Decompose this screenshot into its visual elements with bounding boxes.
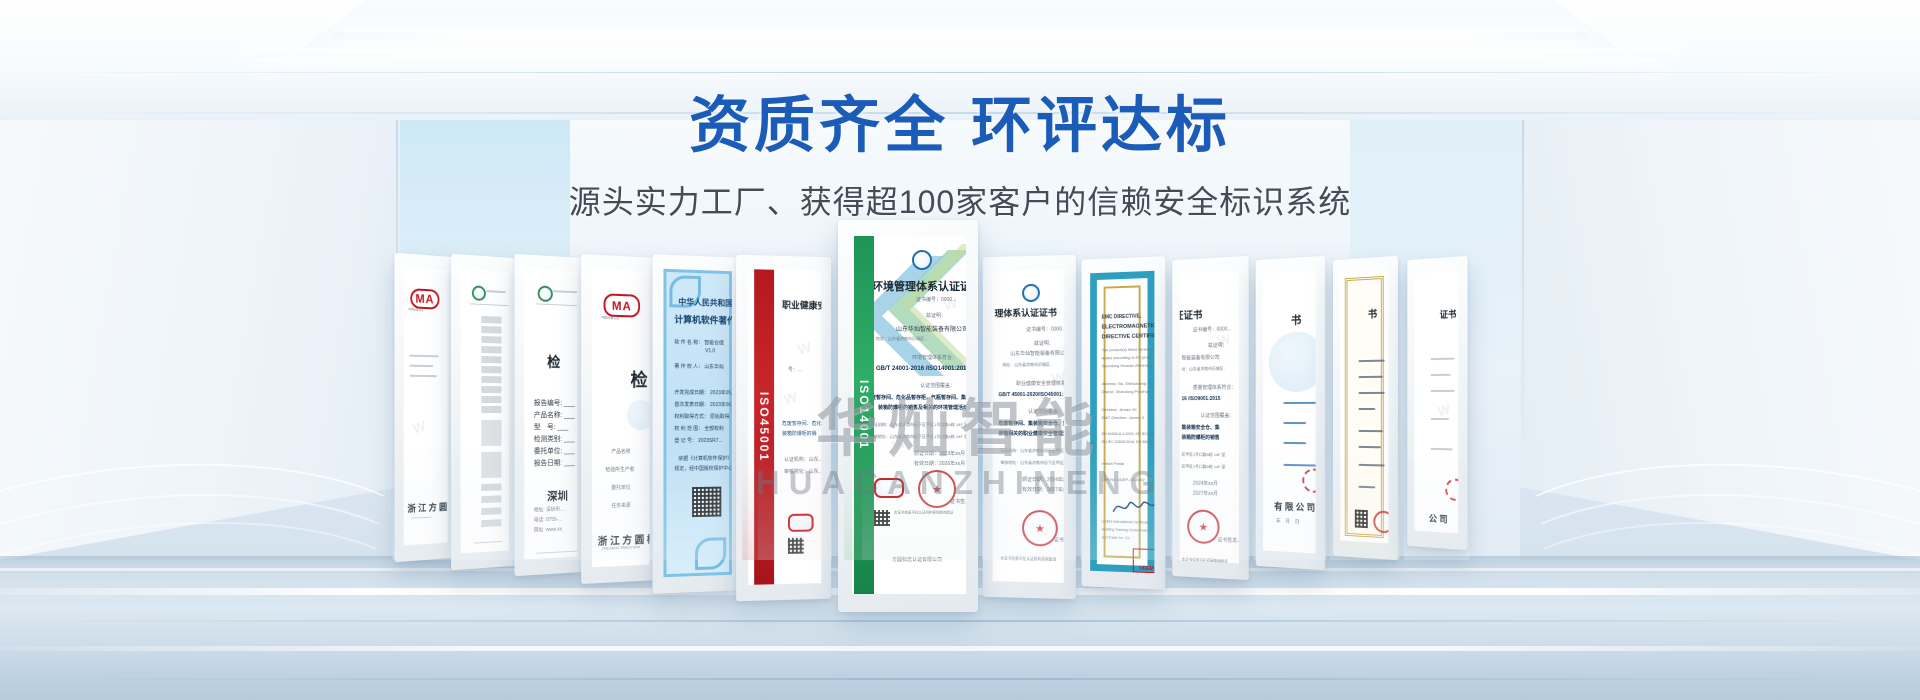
authorization-title: 书 xyxy=(1291,312,1301,328)
page-title-part1: 资质齐全 xyxy=(689,91,949,159)
ohs-company: 山东华灿智能装备有限公司 xyxy=(1010,350,1064,358)
right-plain-title: 证书 xyxy=(1440,307,1457,321)
right-plain-org: 公 司 xyxy=(1429,512,1448,526)
iso45001-title: 职业健康安全 xyxy=(782,298,821,312)
certificate-frame-agent-authorization[interactable]: 书 有 限 公 司 年 月 日 xyxy=(1256,256,1326,570)
page-subtitle: 源头实力工厂、获得超100家客户的信赖安全标识系统 xyxy=(0,177,1920,223)
iso9001-scope: 集装箱安全仓、集 xyxy=(1182,424,1220,431)
ohs-title: 理体系认证证书 xyxy=(995,305,1057,319)
ma-badge-4: MA xyxy=(604,293,640,317)
udem-logo: UDEM xyxy=(1133,548,1155,573)
blue-certificate-body: 中华人民共和国 计算机软件著作权 软 件 名 称： 智能仓储 V1.0 著 作 … xyxy=(663,269,731,577)
iso45001-band: ISO45001 xyxy=(754,269,774,584)
iso45001-qr xyxy=(788,538,804,554)
signature-icon xyxy=(1111,496,1154,519)
iso14001-band: ISO14001 xyxy=(854,236,874,594)
globe-logo-4 xyxy=(627,400,650,430)
red-stamp-11 xyxy=(1302,468,1315,493)
cert-title-3: 检 xyxy=(547,352,560,372)
iso14001-standard: GB/T 24001-2016 /ISO14001:2015 xyxy=(876,366,966,372)
certificate-frame-ce-emc[interactable]: EMC DIRECTIVE, ELECTROMAGNETIC COMPATIBI… xyxy=(1082,256,1166,590)
copyright-title-1: 中华人民共和国 xyxy=(678,296,732,309)
certificate-frame-iso14001[interactable]: 环境管理体系认证证书 证书编号：0000... 兹证明： 山东华灿智能装备有限公… xyxy=(838,220,978,612)
cnas-logo-45001 xyxy=(788,514,814,532)
certificate-frame-software-copyright[interactable]: 中华人民共和国 计算机软件著作权 软 件 名 称： 智能仓储 V1.0 著 作 … xyxy=(653,254,741,594)
org-logo-3 xyxy=(538,285,553,302)
certificate-frame-right-plain[interactable]: 证书 公 司 W xyxy=(1407,256,1467,550)
cert-org-en-4: ZHEJIANG FANGYUAN xyxy=(602,545,641,551)
cnas-logo-14001 xyxy=(874,478,904,498)
fangyuan-seal-logo xyxy=(912,250,932,270)
copyright-qr-code xyxy=(692,487,721,517)
certificate-frame-iso45001[interactable]: ISO45001 职业健康安全 号：... 危废暂存间、危化品暂存 装箱防爆柜的… xyxy=(736,255,831,602)
certificate-frame-shenzhen-test[interactable]: 检 报告编号: ___ 产品名称: ___ 型 号: ___ 检测类别: ___… xyxy=(515,254,585,576)
iso14001-issuer: 方圆标志认证有限公司 xyxy=(892,556,942,563)
banner-headings: 资质齐全环评达标 源头实力工厂、获得超100家客户的信赖安全标识系统 xyxy=(0,92,1920,223)
certificate-frame-gold-honor[interactable]: 书 xyxy=(1333,256,1398,560)
cert-org-3: 深圳 xyxy=(547,488,568,505)
iso14001-scope: 危废暂存间、危化品暂存柜、气瓶暂存间、集装箱安全仓、集 xyxy=(866,394,966,401)
iso14001-title: 环境管理体系认证证书 xyxy=(872,278,966,294)
official-red-stamp-8: ★ xyxy=(1022,510,1058,547)
iso14001-company: 山东华灿智能装备有限公司 xyxy=(896,324,966,333)
ma-badge-sub-4: 中国计量认证 xyxy=(602,315,619,320)
fangyuan-seal-logo-8 xyxy=(1022,284,1040,302)
cert-title-4: 检 xyxy=(631,366,648,392)
iso45001-band-label: ISO45001 xyxy=(757,392,771,462)
cert-fields-3: 报告编号: ___ 产品名称: ___ 型 号: ___ 检测类别: ___ 委… xyxy=(524,269,577,272)
cert-table-2 xyxy=(461,269,509,272)
iso14001-sign-label: 证书签发人 xyxy=(950,498,966,505)
ohs-standard: GB/T 45001-2020/ISO45001:2018 xyxy=(998,392,1063,398)
ce-title-1: EMC DIRECTIVE, xyxy=(1102,313,1141,320)
iso9001-title: 证证书 xyxy=(1180,306,1203,322)
copyright-fields: 软 件 名 称： 智能仓储 V1.0 著 作 权 人： 山东华灿 开发完成日期：… xyxy=(666,272,729,274)
iso45001-scope: 危废暂存间、危化品暂存 xyxy=(782,420,821,427)
gold-border-frame xyxy=(1345,276,1384,538)
globe-watermark-11 xyxy=(1269,331,1316,392)
cert-fields-4: 产品名称 检验所生产者 委托单位 任务来源 xyxy=(592,269,650,272)
honor-title: 书 xyxy=(1368,305,1377,320)
page-title-part2: 环评达标 xyxy=(971,91,1231,159)
certificate-frame-ohs-management[interactable]: 理体系认证证书 证书编号：0000... 兹证明： 山东华灿智能装备有限公司 地… xyxy=(983,255,1076,600)
iso9001-standard: 16 /ISO9001:2015 xyxy=(1182,396,1221,402)
iso14001-band-label: ISO14001 xyxy=(857,380,871,450)
authorization-org: 有 限 公 司 xyxy=(1274,499,1315,514)
page-title: 资质齐全环评达标 xyxy=(0,92,1920,159)
honor-barcode xyxy=(1355,510,1368,529)
certificate-frame-zhejiang-fangyuan-1[interactable]: MA 中国计量认证 浙 江 方 圆 W xyxy=(394,253,454,563)
iso14001-qr xyxy=(874,510,890,526)
certificate-frame-iso9001[interactable]: 证证书 证书编号：0000... 兹证明： 智能装备有限公司 址：山东省济南市历… xyxy=(1172,256,1249,580)
certificate-frame-shenzhen-list[interactable] xyxy=(451,254,516,571)
official-red-stamp-10: ★ xyxy=(1187,509,1219,544)
org-logo-2 xyxy=(472,285,486,301)
copyright-title-2: 计算机软件著作权 xyxy=(674,312,732,327)
certificate-banner: 资质齐全环评达标 源头实力工厂、获得超100家客户的信赖安全标识系统 MA 中国… xyxy=(0,0,1920,700)
ma-badge-1: MA xyxy=(410,288,439,310)
ma-badge-sub-1: 中国计量认证 xyxy=(408,307,423,312)
certificate-frame-zhejiang-fangyuan-2[interactable]: MA 中国计量认证 检 产品名称 检验所生产者 委托单位 任务来源 浙 江 方 … xyxy=(581,254,658,584)
cert-org-1: 浙 江 方 圆 xyxy=(407,500,447,515)
red-stamp-13 xyxy=(1445,478,1458,501)
